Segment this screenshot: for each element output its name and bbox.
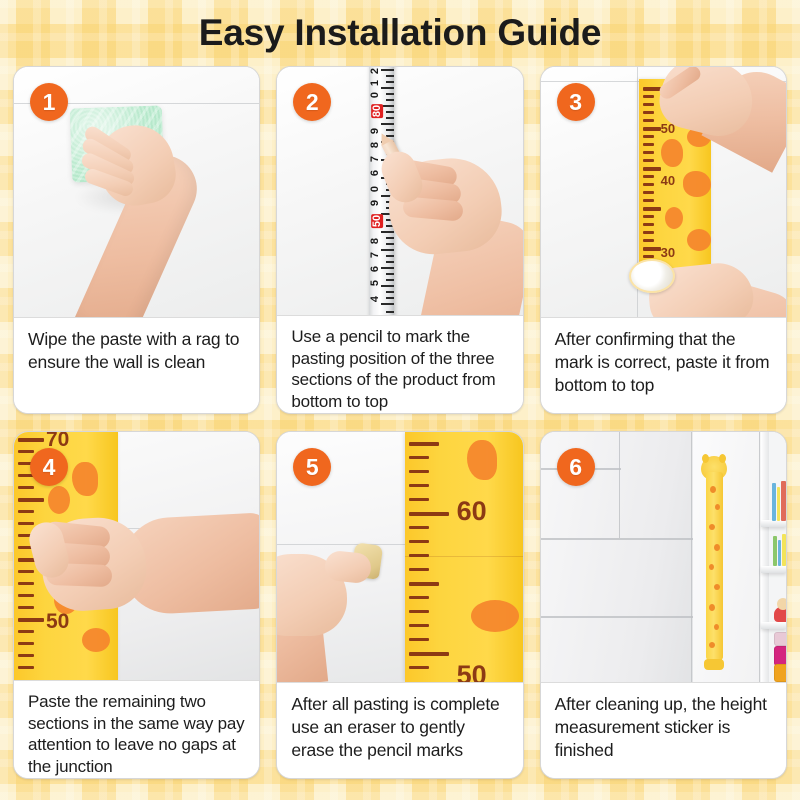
giraffe-hoof [704, 659, 724, 670]
tape-number: 2 [369, 68, 381, 74]
ruler-number: 40 [661, 173, 675, 188]
step-badge-1: 1 [30, 83, 68, 121]
ruler-number: 50 [457, 660, 487, 682]
shelf-bay-books [770, 476, 786, 521]
shelf-bay-toys [770, 528, 786, 566]
installation-guide-page: Easy Installation Guide 1 Wipe the paste… [0, 0, 800, 800]
bookshelf [761, 432, 786, 682]
tape-number: 9 [369, 200, 381, 206]
step-5-photo: 60 50 5 [277, 432, 522, 682]
tape-number: 0 [369, 186, 381, 192]
tape-number: 7 [369, 252, 381, 258]
step-card-2: 2 1 0 80 9 8 7 6 0 9 50 8 7 6 5 4 [276, 66, 523, 414]
step-card-1: 1 Wipe the paste with a rag to ensure th… [13, 66, 260, 414]
step-3-photo: 50 40 30 3 [541, 67, 786, 317]
shelf-bay-plush [770, 572, 786, 622]
step-2-caption: Use a pencil to mark the pasting positio… [277, 315, 522, 414]
step-1-photo: 1 [14, 67, 259, 317]
step-2-photo: 2 1 0 80 9 8 7 6 0 9 50 8 7 6 5 4 [277, 67, 522, 315]
step-5-caption: After all pasting is complete use an era… [277, 682, 522, 778]
shelf-bay-bins [770, 628, 786, 682]
step-badge-6: 6 [557, 448, 595, 486]
step-4-caption: Paste the remaining two sections in the … [14, 680, 259, 779]
tape-number: 6 [369, 170, 381, 176]
giraffe-height-sticker [701, 446, 727, 670]
wall-seam [277, 544, 404, 545]
step-card-5: 60 50 5 After all pasting is complete us… [276, 431, 523, 779]
steps-grid: 1 Wipe the paste with a rag to ensure th… [13, 66, 787, 788]
step-card-6: 6 After cleaning up, the height measurem… [540, 431, 787, 779]
ruler-number: 60 [457, 496, 487, 527]
height-ruler-sticker: 60 50 [405, 432, 523, 682]
step-card-3: 50 40 30 3 After confirming that the mar… [540, 66, 787, 414]
tape-number: 6 [369, 266, 381, 272]
ruler-number: 30 [661, 245, 675, 260]
step-card-4: 70 50 4 Paste the remaining two sections… [13, 431, 260, 779]
step-6-caption: After cleaning up, the height measuremen… [541, 682, 786, 778]
step-4-photo: 70 50 4 [14, 432, 259, 680]
giraffe-body [706, 472, 723, 660]
tape-number-highlight: 50 [371, 214, 383, 228]
step-badge-4: 4 [30, 448, 68, 486]
tape-number: 1 [369, 80, 381, 86]
ruler-number: 50 [46, 610, 69, 634]
tape-number: 4 [369, 296, 381, 302]
tape-number: 5 [369, 280, 381, 286]
step-badge-3: 3 [557, 83, 595, 121]
step-6-photo: 6 [541, 432, 786, 682]
tape-number: 7 [369, 156, 381, 162]
step-1-caption: Wipe the paste with a rag to ensure the … [14, 317, 259, 413]
tape-number: 8 [369, 238, 381, 244]
step-3-caption: After confirming that the mark is correc… [541, 317, 786, 413]
tape-number-highlight: 80 [371, 104, 383, 118]
tape-number: 0 [369, 92, 381, 98]
page-title: Easy Installation Guide [0, 12, 800, 54]
sticker-roll [629, 259, 675, 293]
